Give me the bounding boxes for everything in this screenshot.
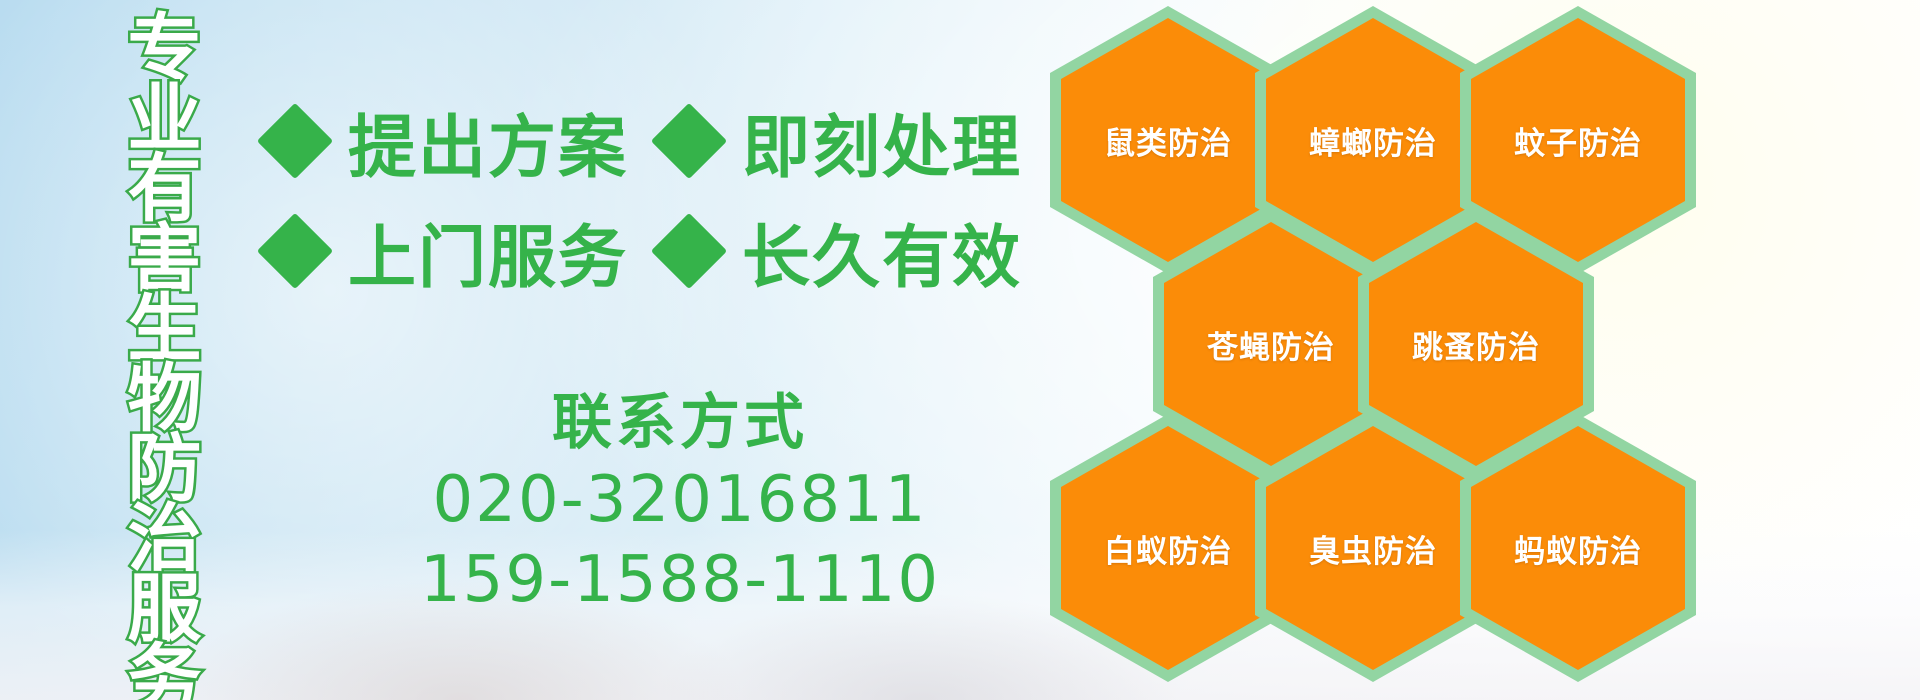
service-label: 蚂蚁防治 xyxy=(1460,414,1696,682)
vertical-headline-char: 服 xyxy=(128,574,202,644)
slogan-text: 上门服务 xyxy=(348,202,628,301)
slogan-text: 长久有效 xyxy=(742,202,1022,301)
vertical-headline-char: 业 xyxy=(128,84,202,154)
service-label: 白蚁防治 xyxy=(1050,414,1286,682)
slogan-block: 提出方案 即刻处理 上门服务 长久有效 xyxy=(268,86,1022,306)
service-hex-ant[interactable]: 蚂蚁防治 xyxy=(1460,414,1696,682)
vertical-headline: 专 业 有 害 生 物 防 治 服 务 xyxy=(112,14,217,594)
slogan-text: 即刻处理 xyxy=(742,92,1022,191)
contact-phone-landline[interactable]: 020-32016811 xyxy=(380,460,980,540)
contact-block: 联系方式 020-32016811 159-1588-1110 xyxy=(380,386,980,620)
contact-phone-mobile[interactable]: 159-1588-1110 xyxy=(380,540,980,620)
slogan-item: 即刻处理 xyxy=(662,92,1022,191)
pest-control-banner: 专 业 有 害 生 物 防 治 服 务 提出方案 即刻处理 上门服务 xyxy=(0,0,1920,700)
slogan-item: 长久有效 xyxy=(662,202,1022,301)
service-hex-bedbug[interactable]: 臭虫防治 xyxy=(1255,414,1491,682)
vertical-headline-char: 治 xyxy=(128,504,202,574)
slogan-item: 上门服务 xyxy=(268,202,628,301)
diamond-icon xyxy=(257,103,333,179)
vertical-headline-char: 务 xyxy=(128,644,202,700)
slogan-item: 提出方案 xyxy=(268,92,628,191)
service-label: 臭虫防治 xyxy=(1255,414,1491,682)
vertical-headline-char: 害 xyxy=(128,224,202,294)
diamond-icon xyxy=(257,213,333,289)
slogan-row: 提出方案 即刻处理 xyxy=(268,86,1022,196)
services-honeycomb: 鼠类防治 蟑螂防治 蚊子防治 苍蝇防治 跳蚤防治 白蚁防治 xyxy=(1050,0,1850,700)
vertical-headline-char: 专 xyxy=(128,14,202,84)
slogan-row: 上门服务 长久有效 xyxy=(268,196,1022,306)
vertical-headline-char: 物 xyxy=(128,364,202,434)
contact-label: 联系方式 xyxy=(380,386,980,460)
diamond-icon xyxy=(651,103,727,179)
slogan-text: 提出方案 xyxy=(348,92,628,191)
vertical-headline-char: 有 xyxy=(128,154,202,224)
diamond-icon xyxy=(651,213,727,289)
service-hex-termite[interactable]: 白蚁防治 xyxy=(1050,414,1286,682)
vertical-headline-char: 生 xyxy=(128,294,202,364)
vertical-headline-char: 防 xyxy=(128,434,202,504)
